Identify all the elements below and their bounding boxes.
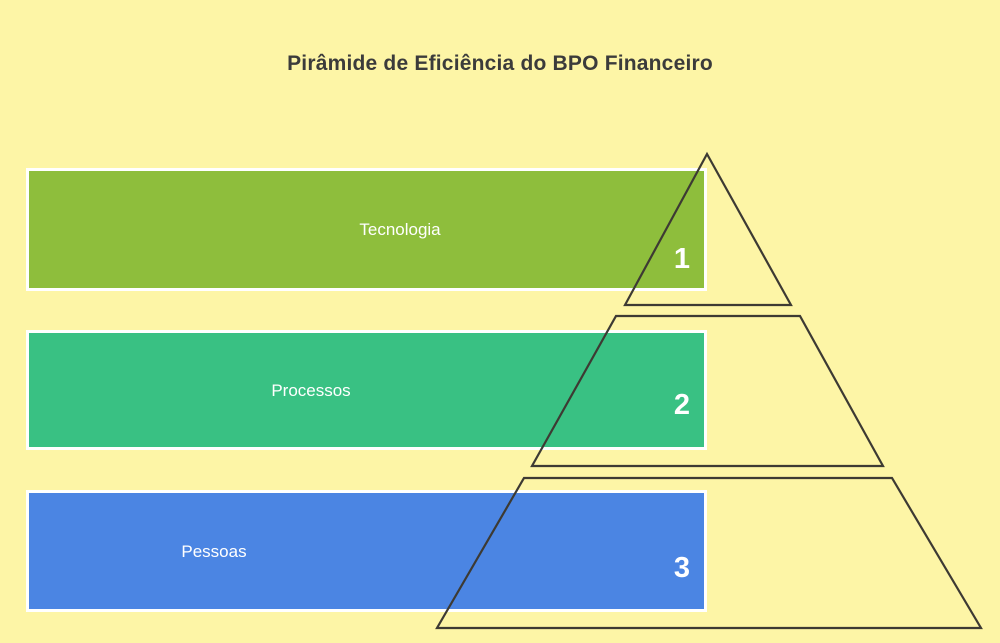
tier-label-pessoas: Pessoas [64, 542, 364, 562]
tier-label-processos: Processos [161, 381, 461, 401]
page-title: Pirâmide de Eficiência do BPO Financeiro [0, 52, 1000, 76]
tier-label-tecnologia: Tecnologia [250, 220, 550, 240]
pyramid-chart-canvas: Pirâmide de Eficiência do BPO Financeiro… [0, 0, 1000, 643]
tier-rank-pessoas: 3 [490, 552, 690, 585]
tier-rank-processos: 2 [490, 389, 690, 422]
tier-rank-tecnologia: 1 [490, 243, 690, 276]
